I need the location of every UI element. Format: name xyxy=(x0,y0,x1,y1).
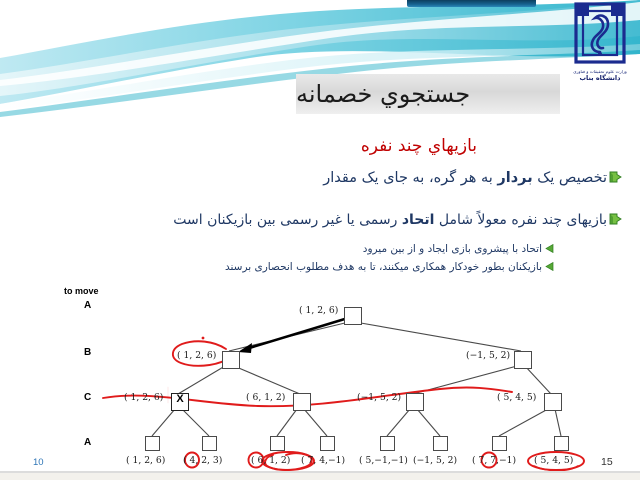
x-marker-label: X xyxy=(172,393,188,405)
to-move-label: to move xyxy=(64,286,99,296)
triangle-bullet-icon xyxy=(545,262,554,271)
tree-node-c-2-label: ( 6, 1, 2) xyxy=(246,392,285,403)
tree-node-b-1-label: ( 1, 2, 6) xyxy=(177,350,216,361)
tree-node-c-2[interactable] xyxy=(293,393,311,411)
tree-node-c-4[interactable] xyxy=(544,393,562,411)
tree-leaf-label-7: ( 7, 7,−1) xyxy=(472,455,516,466)
tree-leaf-node-8[interactable] xyxy=(554,436,569,451)
triangle-bullet-icon xyxy=(545,244,554,253)
tree-leaf-node-1[interactable] xyxy=(145,436,160,451)
tree-node-b-1[interactable] xyxy=(222,351,240,369)
propagation-arrow-icon xyxy=(238,318,348,353)
tree-node-b-2-label: (−1, 5, 2) xyxy=(466,350,510,361)
tree-leaf-node-7[interactable] xyxy=(492,436,507,451)
bullet-item-2: بازیهای چند نفره معولاً شامل اتحاد رسمی … xyxy=(173,212,622,228)
tree-node-root-label: ( 1, 2, 6) xyxy=(299,305,338,316)
section-heading: بازیهاي چند نفره xyxy=(361,136,477,156)
sub-bullet-1-text: اتحاد با پیشروی بازی ایجاد و از بین میرو… xyxy=(363,243,542,255)
bullet-1-text-bold: بردار xyxy=(497,170,532,186)
arrow-bullet-icon xyxy=(609,213,622,225)
tree-node-c-1-label: ( 1, 2, 6) xyxy=(124,392,163,403)
tree-leaf-label-5: ( 5,−1,−1) xyxy=(359,455,408,466)
tree-leaf-node-6[interactable] xyxy=(433,436,448,451)
tree-leaf-label-2: ( 4, 2, 3) xyxy=(183,455,222,466)
tree-leaf-node-2[interactable] xyxy=(202,436,217,451)
bullet-2-text-c: رسمی یا غیر رسمی بین بازیکنان است xyxy=(173,212,402,228)
sub-bullet-item-2: بازیکنان بطور خودکار همکاری میکنند، تا ب… xyxy=(225,261,554,273)
tree-leaf-label-8: ( 5, 4, 5) xyxy=(534,455,573,466)
tree-row-label-c: C xyxy=(84,392,91,403)
tree-leaf-label-3: ( 6, 1, 2) xyxy=(251,455,290,466)
tree-leaf-label-4: ( 7, 4,−1) xyxy=(301,455,345,466)
sub-bullet-item-1: اتحاد با پیشروی بازی ایجاد و از بین میرو… xyxy=(363,243,554,255)
tree-leaf-node-4[interactable] xyxy=(320,436,335,451)
tree-node-c-3-label: (−1, 5, 2) xyxy=(357,392,401,403)
slide-canvas: وزارت علوم تحقیقات و فناوری دانشگاه بناب… xyxy=(0,0,640,480)
tree-node-root[interactable] xyxy=(344,307,362,325)
tree-leaf-node-5[interactable] xyxy=(380,436,395,451)
tree-leaf-node-3[interactable] xyxy=(270,436,285,451)
tree-row-label-a-bottom: A xyxy=(84,437,91,448)
sub-bullet-2-text: بازیکنان بطور خودکار همکاری میکنند، تا ب… xyxy=(225,261,542,273)
tree-row-label-b: B xyxy=(84,347,91,358)
tree-leaf-label-1: ( 1, 2, 6) xyxy=(126,455,165,466)
footer-strip xyxy=(0,473,640,480)
page-number-left: 10 xyxy=(33,457,44,468)
page-title: جستجوي خصمانه xyxy=(296,74,552,114)
tree-node-c-1[interactable]: X xyxy=(171,393,189,411)
bullet-1-text-c: به هر گره، به جای یک مقدار xyxy=(323,170,497,186)
tree-row-label-a-top: A xyxy=(84,300,91,311)
bullet-2-text-bold: اتحاد xyxy=(402,212,435,228)
bullet-2-text-a: بازیهای چند نفره معولاً شامل xyxy=(434,212,607,228)
tree-node-b-2[interactable] xyxy=(514,351,532,369)
tree-leaf-label-6: (−1, 5, 2) xyxy=(413,455,457,466)
arrow-bullet-icon xyxy=(609,171,622,183)
university-logo: وزارت علوم تحقیقات و فناوری دانشگاه بناب xyxy=(565,2,635,90)
top-accent-bar xyxy=(407,0,536,7)
tree-node-c-3[interactable] xyxy=(406,393,424,411)
tree-node-c-4-label: ( 5, 4, 5) xyxy=(497,392,536,403)
logo-university-label: دانشگاه بناب xyxy=(565,74,635,82)
bullet-1-text-a: تخصیص یک xyxy=(533,170,607,186)
bullet-item-1: تخصیص یک بردار به هر گره، به جای یک مقدا… xyxy=(323,170,622,186)
page-number-right: 15 xyxy=(601,456,613,468)
